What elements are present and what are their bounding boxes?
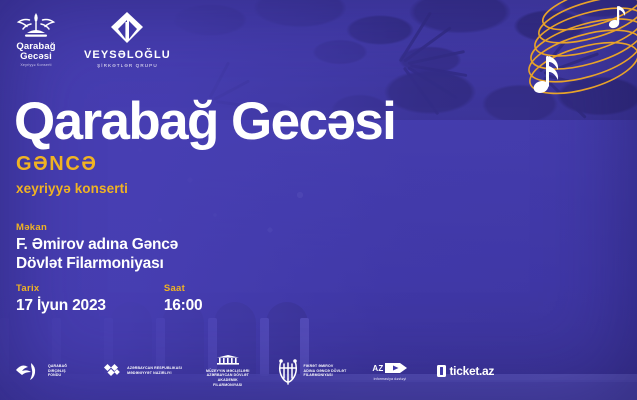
logo-qarabag-gecesi[interactable]: QarabağGecəsi Xeyriyyə Konserti bbox=[14, 10, 58, 67]
time-value: 16:00 bbox=[164, 297, 203, 316]
sponsor-ministry-of-culture[interactable]: Azərbaycan Respublikası Mədəniyyət Nazir… bbox=[101, 361, 182, 381]
iticket-label: ticket.az bbox=[449, 364, 494, 378]
logo-veyseloglu-sub: ŞİRKƏTLƏR QRUPU bbox=[97, 63, 158, 68]
ministry-of-culture-icon bbox=[101, 361, 123, 381]
sponsor-fikret-emirov-philharmonic[interactable]: Fikrət Əmirov adına Gəncə Dövlət Filarmo… bbox=[276, 357, 347, 385]
date-block: Tarix 17 İyun 2023 bbox=[16, 283, 106, 316]
aztv-note: informasiya dəstəyi bbox=[374, 377, 407, 381]
venue-line-1: F. Əmirov adına Gəncə bbox=[16, 236, 178, 253]
logo-veyseloglu-name: VEYSƏLOĞLU bbox=[84, 49, 171, 61]
kharybulbul-flower-icon bbox=[14, 10, 58, 40]
datetime-block: Tarix 17 İyun 2023 Saat 16:00 bbox=[16, 283, 202, 316]
logo-veyseloglu[interactable]: VEYSƏLOĞLU ŞİRKƏTLƏR QRUPU bbox=[84, 10, 171, 68]
date-value: 17 İyun 2023 bbox=[16, 297, 106, 316]
iticket-mark-icon bbox=[437, 365, 446, 377]
aztv-play-icon bbox=[385, 361, 407, 375]
poster-kicker: xeyriyyə konserti bbox=[16, 181, 128, 196]
lyre-icon bbox=[276, 357, 300, 385]
sponsor-fikret-emirov-philharmonic-text: Fikrət Əmirov adına Gəncə Dövlət Filarmo… bbox=[304, 364, 347, 378]
footer-sponsors: Qarabağ Dirçəliş Fondu Azərbaycan Respub… bbox=[14, 350, 627, 392]
time-label: Saat bbox=[164, 283, 203, 294]
time-block: Saat 16:00 bbox=[164, 283, 203, 316]
venue-label: Məkan bbox=[16, 222, 178, 233]
header-logos: QarabağGecəsi Xeyriyyə Konserti VEYSƏLOĞ… bbox=[14, 10, 171, 68]
sponsor-ministry-of-culture-text: Azərbaycan Respublikası Mədəniyyət Nazir… bbox=[127, 366, 182, 375]
state-philharmonic-icon bbox=[215, 355, 241, 367]
sponsor-qarabag-dircelis-fondu[interactable]: Qarabağ Dirçəliş Fondu bbox=[14, 360, 67, 382]
sponsor-state-philharmonic[interactable]: Müzeyyin Məclisləri Azərbaycan Dövlət Ak… bbox=[206, 355, 250, 388]
qarabag-dircelis-fondu-icon bbox=[14, 360, 44, 382]
sponsor-state-philharmonic-text: Müzeyyin Məclisləri Azərbaycan Dövlət Ak… bbox=[206, 369, 250, 388]
veyseloglu-diamond-icon bbox=[107, 10, 147, 46]
sponsor-qarabag-dircelis-fondu-text: Qarabağ Dirçəliş Fondu bbox=[48, 364, 67, 378]
event-poster: QarabağGecəsi Xeyriyyə Konserti VEYSƏLOĞ… bbox=[0, 0, 637, 400]
logo-qarabag-gecesi-sub: Xeyriyyə Konserti bbox=[20, 63, 51, 67]
date-label: Tarix bbox=[16, 283, 106, 294]
logo-qarabag-gecesi-name: QarabağGecəsi bbox=[16, 42, 55, 62]
ticketing-partner-iticket[interactable]: ticket.az bbox=[437, 364, 494, 378]
media-partner-aztv[interactable]: AZ informasiya dəstəyi bbox=[372, 361, 407, 381]
poster-city: GƏNCƏ bbox=[16, 153, 98, 176]
venue-line-2: Dövlət Filarmoniyası bbox=[16, 255, 164, 272]
poster-title: Qarabağ Gecəsi bbox=[14, 95, 395, 148]
venue-block: Məkan F. Əmirov adına Gəncə Dövlət Filar… bbox=[16, 222, 178, 274]
aztv-label: AZ bbox=[372, 364, 383, 373]
venue-value: F. Əmirov adına Gəncə Dövlət Filarmoniya… bbox=[16, 236, 178, 274]
